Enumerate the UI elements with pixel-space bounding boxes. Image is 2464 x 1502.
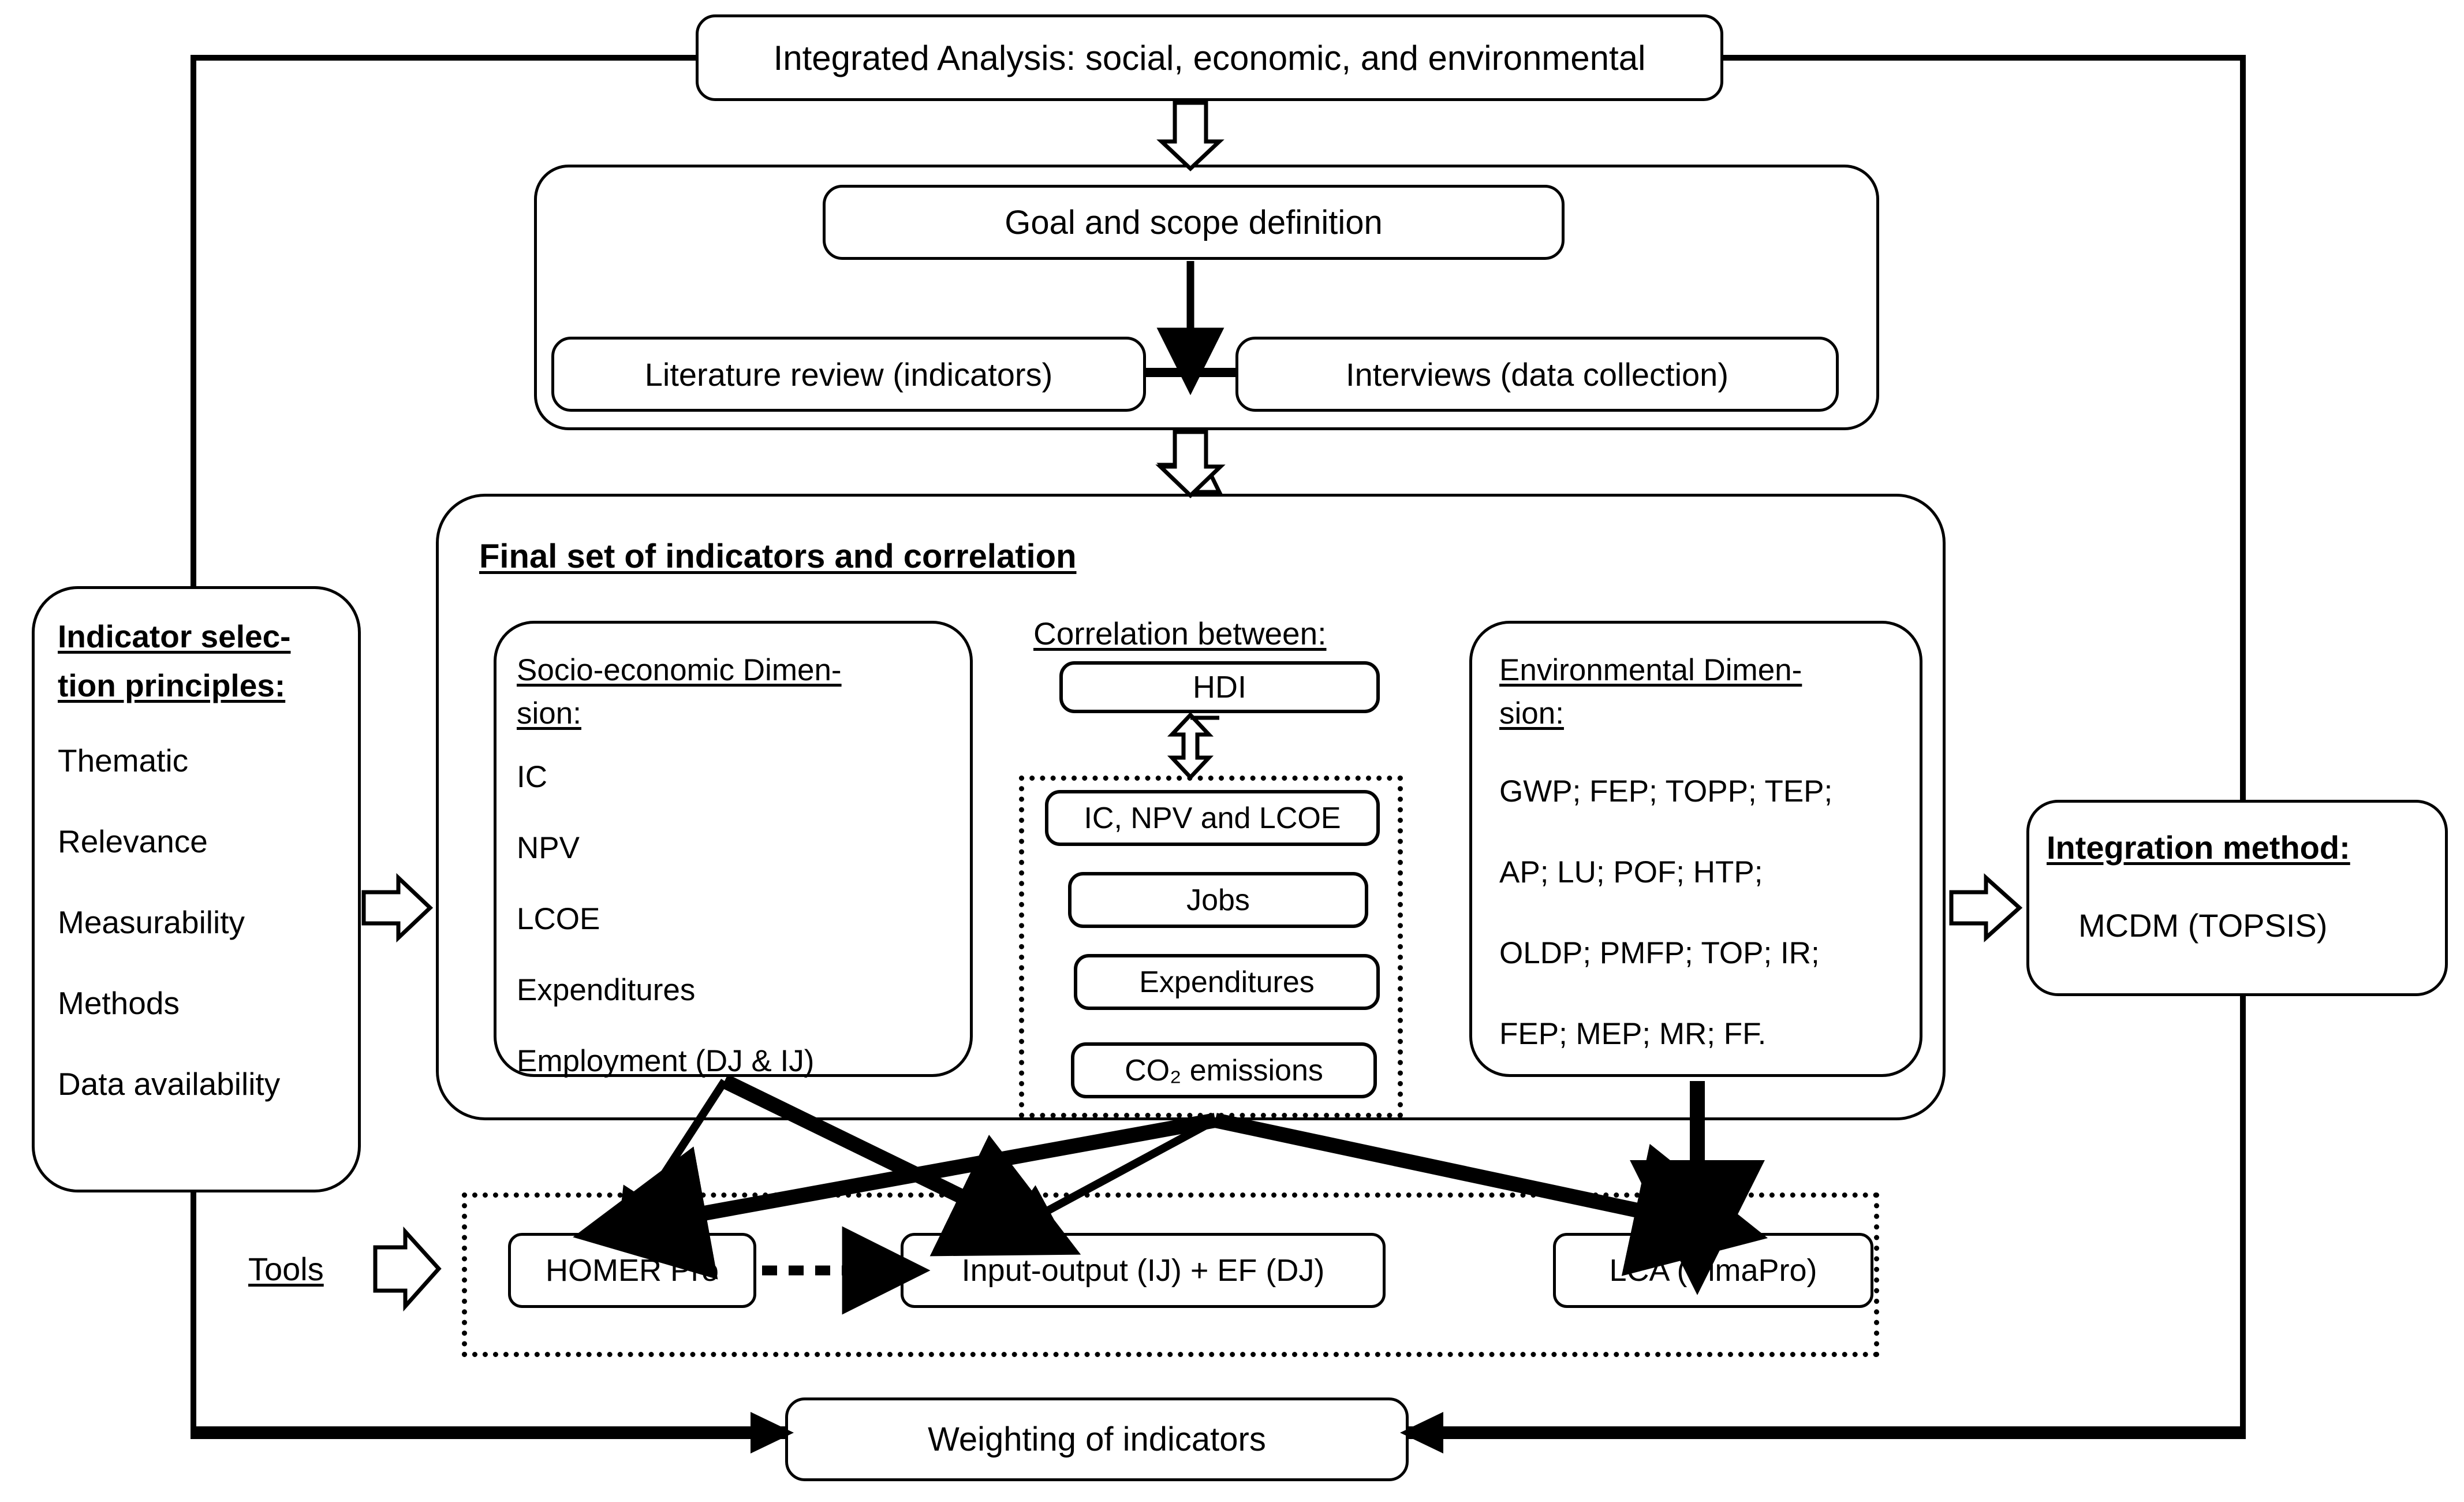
integration-method-value: MCDM (TOPSIS): [2078, 907, 2327, 944]
correlation-box-0[interactable]: IC, NPV and LCOE: [1045, 790, 1380, 846]
frame-top-left: [191, 55, 699, 61]
block-arrow-principles-to-finalset: [364, 878, 430, 938]
tool-homer-pro-label: HOMER Pro: [546, 1253, 719, 1288]
env-heading-line1: Environmental Dimen-: [1499, 653, 1802, 688]
frame-top-right: [1720, 55, 2246, 61]
env-line-2: OLDP; PMFP; TOP; IR;: [1499, 936, 1820, 971]
socio-heading-line1: Socio-economic Dimen-: [517, 653, 842, 688]
hdi-label: HDI: [1193, 669, 1246, 705]
tool-box-homer-pro[interactable]: HOMER Pro: [508, 1233, 756, 1308]
socio-item-1: NPV: [517, 830, 580, 866]
indicator-principle-item-0: Thematic: [58, 742, 188, 779]
socio-item-2: LCOE: [517, 901, 600, 937]
env-line-1: AP; LU; POF; HTP;: [1499, 855, 1763, 890]
weighting-box[interactable]: Weighting of indicators: [785, 1397, 1409, 1481]
indicator-principle-item-3: Methods: [58, 985, 180, 1022]
integrated-analysis-label: Integrated Analysis: social, economic, a…: [774, 38, 1646, 78]
final-set-heading: Final set of indicators and correlation: [479, 537, 1077, 576]
integration-method-heading: Integration method:: [2047, 829, 2350, 866]
goal-scope-label: Goal and scope definition: [1005, 203, 1383, 242]
block-arrow-phase1-to-finalset: [1160, 432, 1220, 495]
block-arrow-finalset-to-integration: [1951, 878, 2019, 938]
socio-item-0: IC: [517, 759, 547, 795]
env-heading-line2: sion:: [1499, 696, 1564, 731]
frame-bottom-left: [191, 1426, 791, 1439]
correlation-box-1[interactable]: Jobs: [1068, 872, 1368, 928]
frame-right-vertical-upper: [2240, 55, 2246, 800]
env-line-3: FEP; MEP; MR; FF.: [1499, 1016, 1766, 1052]
indicator-principle-item-4: Data availability: [58, 1065, 280, 1102]
correlation-box-3[interactable]: CO₂ emissions: [1071, 1042, 1377, 1098]
block-arrow-title-to-phase1: [1162, 103, 1219, 169]
tools-label: Tools: [248, 1250, 324, 1288]
indicator-principle-item-2: Measurability: [58, 904, 245, 941]
hdi-box[interactable]: HDI: [1059, 661, 1380, 713]
indicator-principles-heading-line1: Indicator selec-: [58, 618, 290, 655]
env-line-0: GWP; FEP; TOPP; TEP;: [1499, 774, 1832, 809]
literature-review-box[interactable]: Literature review (indicators): [551, 337, 1146, 412]
correlation-box-2-label: Expenditures: [1139, 965, 1315, 1000]
correlation-box-1-label: Jobs: [1186, 883, 1250, 918]
tool-box-input-output[interactable]: Input-output (IJ) + EF (DJ): [901, 1233, 1386, 1308]
literature-review-label: Literature review (indicators): [645, 356, 1052, 393]
interviews-label: Interviews (data collection): [1346, 356, 1728, 393]
tool-box-lca[interactable]: LCA (SimaPro): [1553, 1233, 1873, 1308]
tool-lca-label: LCA (SimaPro): [1609, 1253, 1817, 1288]
correlation-box-3-label: CO₂ emissions: [1125, 1053, 1323, 1088]
environmental-box[interactable]: [1469, 621, 1922, 1077]
integrated-analysis-box[interactable]: Integrated Analysis: social, economic, a…: [696, 14, 1723, 101]
correlation-box-2[interactable]: Expenditures: [1074, 954, 1380, 1010]
frame-right-vertical-lower: [2240, 996, 2246, 1438]
weighting-label: Weighting of indicators: [928, 1420, 1266, 1459]
diagram-canvas: Integrated Analysis: social, economic, a…: [0, 0, 2464, 1502]
correlation-heading: Correlation between:: [1033, 615, 1327, 652]
indicator-principle-item-1: Relevance: [58, 823, 208, 860]
interviews-box[interactable]: Interviews (data collection): [1235, 337, 1839, 412]
block-arrow-tools-label: [375, 1232, 439, 1306]
tool-input-output-label: Input-output (IJ) + EF (DJ): [962, 1253, 1325, 1288]
frame-bottom-right: [1403, 1426, 2246, 1439]
socio-item-4: Employment (DJ & IJ): [517, 1043, 814, 1079]
socio-item-3: Expenditures: [517, 972, 695, 1008]
indicator-principles-heading-line2: tion principles:: [58, 667, 285, 704]
socio-heading-line2: sion:: [517, 696, 581, 731]
goal-scope-box[interactable]: Goal and scope definition: [823, 185, 1565, 260]
correlation-box-0-label: IC, NPV and LCOE: [1084, 801, 1341, 836]
